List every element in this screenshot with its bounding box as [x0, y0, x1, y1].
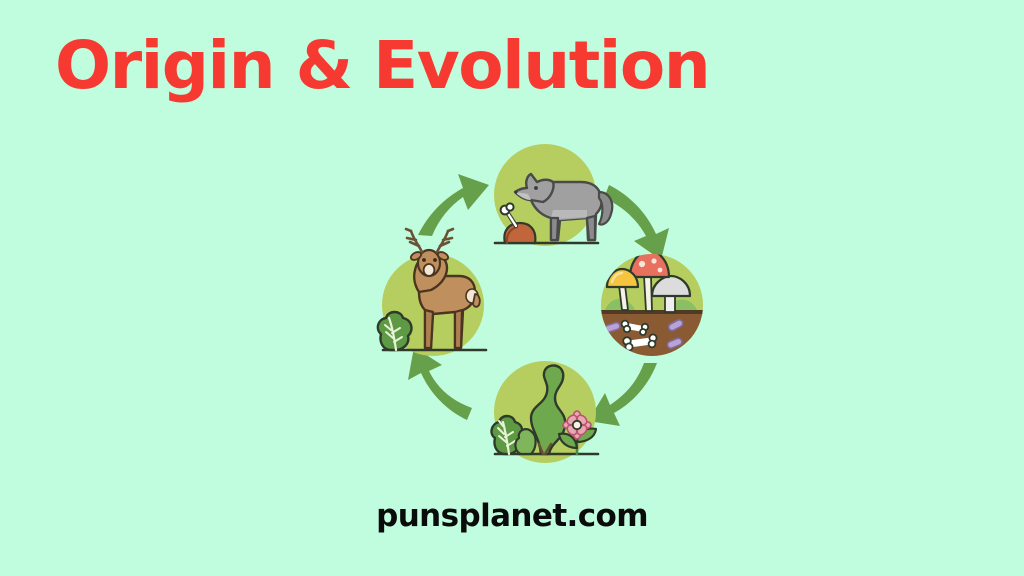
site-watermark: punsplanet.com	[0, 498, 1024, 534]
slide-canvas: Origin & Evolution	[0, 0, 1024, 576]
arrow-decomposer-to-producer	[588, 363, 657, 426]
arrow-producer-to-herbivore	[408, 347, 472, 420]
page-title: Origin & Evolution	[55, 33, 709, 99]
node-decomposer[interactable]	[599, 250, 707, 360]
node-carnivore[interactable]	[494, 144, 612, 246]
node-producer[interactable]	[492, 361, 598, 463]
food-chain-cycle-diagram	[355, 130, 715, 485]
arrow-herbivore-to-carnivore	[418, 174, 489, 236]
arrow-carnivore-to-decomposer	[604, 185, 669, 260]
node-herbivore[interactable]	[378, 229, 486, 356]
